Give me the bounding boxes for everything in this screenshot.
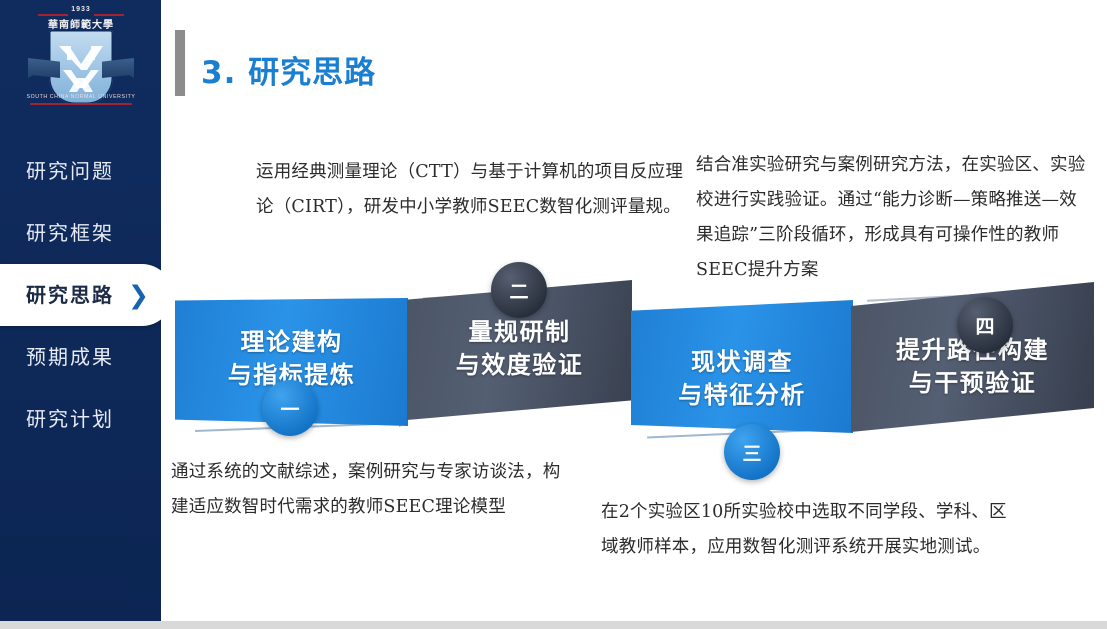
logo-year: 1933 bbox=[22, 6, 140, 13]
flow-step-3-number: 三 bbox=[724, 424, 780, 480]
sidebar-item-label: 研究计划 bbox=[26, 407, 114, 431]
sidebar-item-research-plan[interactable]: 研究计划 bbox=[0, 388, 161, 450]
flow-diagram: 理论建构 与指标提炼 量规研制 与效度验证 现状调查 与特征分析 提升路径构建 bbox=[161, 270, 1107, 470]
page-title: 3. 研究思路 bbox=[201, 47, 376, 92]
flow-step-2-line1: 量规研制 bbox=[407, 316, 632, 349]
sidebar: 1933 華南師範大學 SOUTH CHINA NORMAL UNIVERSIT… bbox=[0, 0, 161, 621]
flow-step-4-line2: 与干预验证 bbox=[851, 367, 1094, 400]
slide-root: 1933 華南師範大學 SOUTH CHINA NORMAL UNIVERSIT… bbox=[0, 0, 1107, 629]
flow-step-2-line2: 与效度验证 bbox=[407, 349, 632, 382]
note-top-right: 结合准实验研究与案例研究方法，在实验区、实验校进行实践验证。通过“能力诊断—策略… bbox=[696, 148, 1091, 288]
logo-name-cn: 華南師範大學 bbox=[22, 16, 140, 31]
sidebar-item-label: 研究问题 bbox=[26, 159, 114, 183]
sidebar-item-label: 研究框架 bbox=[26, 221, 114, 245]
sidebar-item-research-approach[interactable]: 研究思路 ❯ bbox=[0, 264, 161, 326]
university-logo: 1933 華南師範大學 SOUTH CHINA NORMAL UNIVERSIT… bbox=[22, 4, 140, 116]
sidebar-item-research-framework[interactable]: 研究框架 bbox=[0, 202, 161, 264]
bottom-strip bbox=[0, 621, 1107, 629]
note-bottom-right: 在2个实验区10所实验校中选取不同学段、学科、区域教师样本，应用数智化测评系统开… bbox=[601, 495, 1021, 565]
flow-step-2-label: 量规研制 与效度验证 bbox=[407, 316, 632, 382]
sidebar-nav: 研究问题 研究框架 研究思路 ❯ 预期成果 研究计划 bbox=[0, 140, 161, 450]
sidebar-item-label: 研究思路 bbox=[26, 283, 114, 307]
sidebar-item-expected-results[interactable]: 预期成果 bbox=[0, 326, 161, 388]
note-top-left: 运用经典测量理论（CTT）与基于计算机的项目反应理论（CIRT），研发中小学教师… bbox=[256, 155, 691, 225]
flow-step-3[interactable]: 现状调查 与特征分析 bbox=[631, 300, 853, 433]
flow-step-3-line1: 现状调查 bbox=[631, 346, 853, 379]
flow-step-3-line2: 与特征分析 bbox=[631, 379, 853, 412]
flow-step-1-number: 一 bbox=[262, 380, 318, 436]
sidebar-item-research-question[interactable]: 研究问题 bbox=[0, 140, 161, 202]
flow-step-3-label: 现状调查 与特征分析 bbox=[631, 346, 853, 412]
sidebar-item-label: 预期成果 bbox=[26, 345, 114, 369]
logo-name-en: SOUTH CHINA NORMAL UNIVERSITY bbox=[22, 94, 140, 100]
chevron-right-icon: ❯ bbox=[128, 283, 151, 308]
flow-step-1-line1: 理论建构 bbox=[175, 326, 408, 359]
flow-step-4-number: 四 bbox=[957, 297, 1013, 353]
title-accent-bar bbox=[175, 30, 185, 96]
main-content: 3. 研究思路 运用经典测量理论（CTT）与基于计算机的项目反应理论（CIRT）… bbox=[161, 0, 1107, 621]
logo-underline bbox=[30, 103, 132, 105]
flow-step-2-number: 二 bbox=[491, 262, 547, 318]
